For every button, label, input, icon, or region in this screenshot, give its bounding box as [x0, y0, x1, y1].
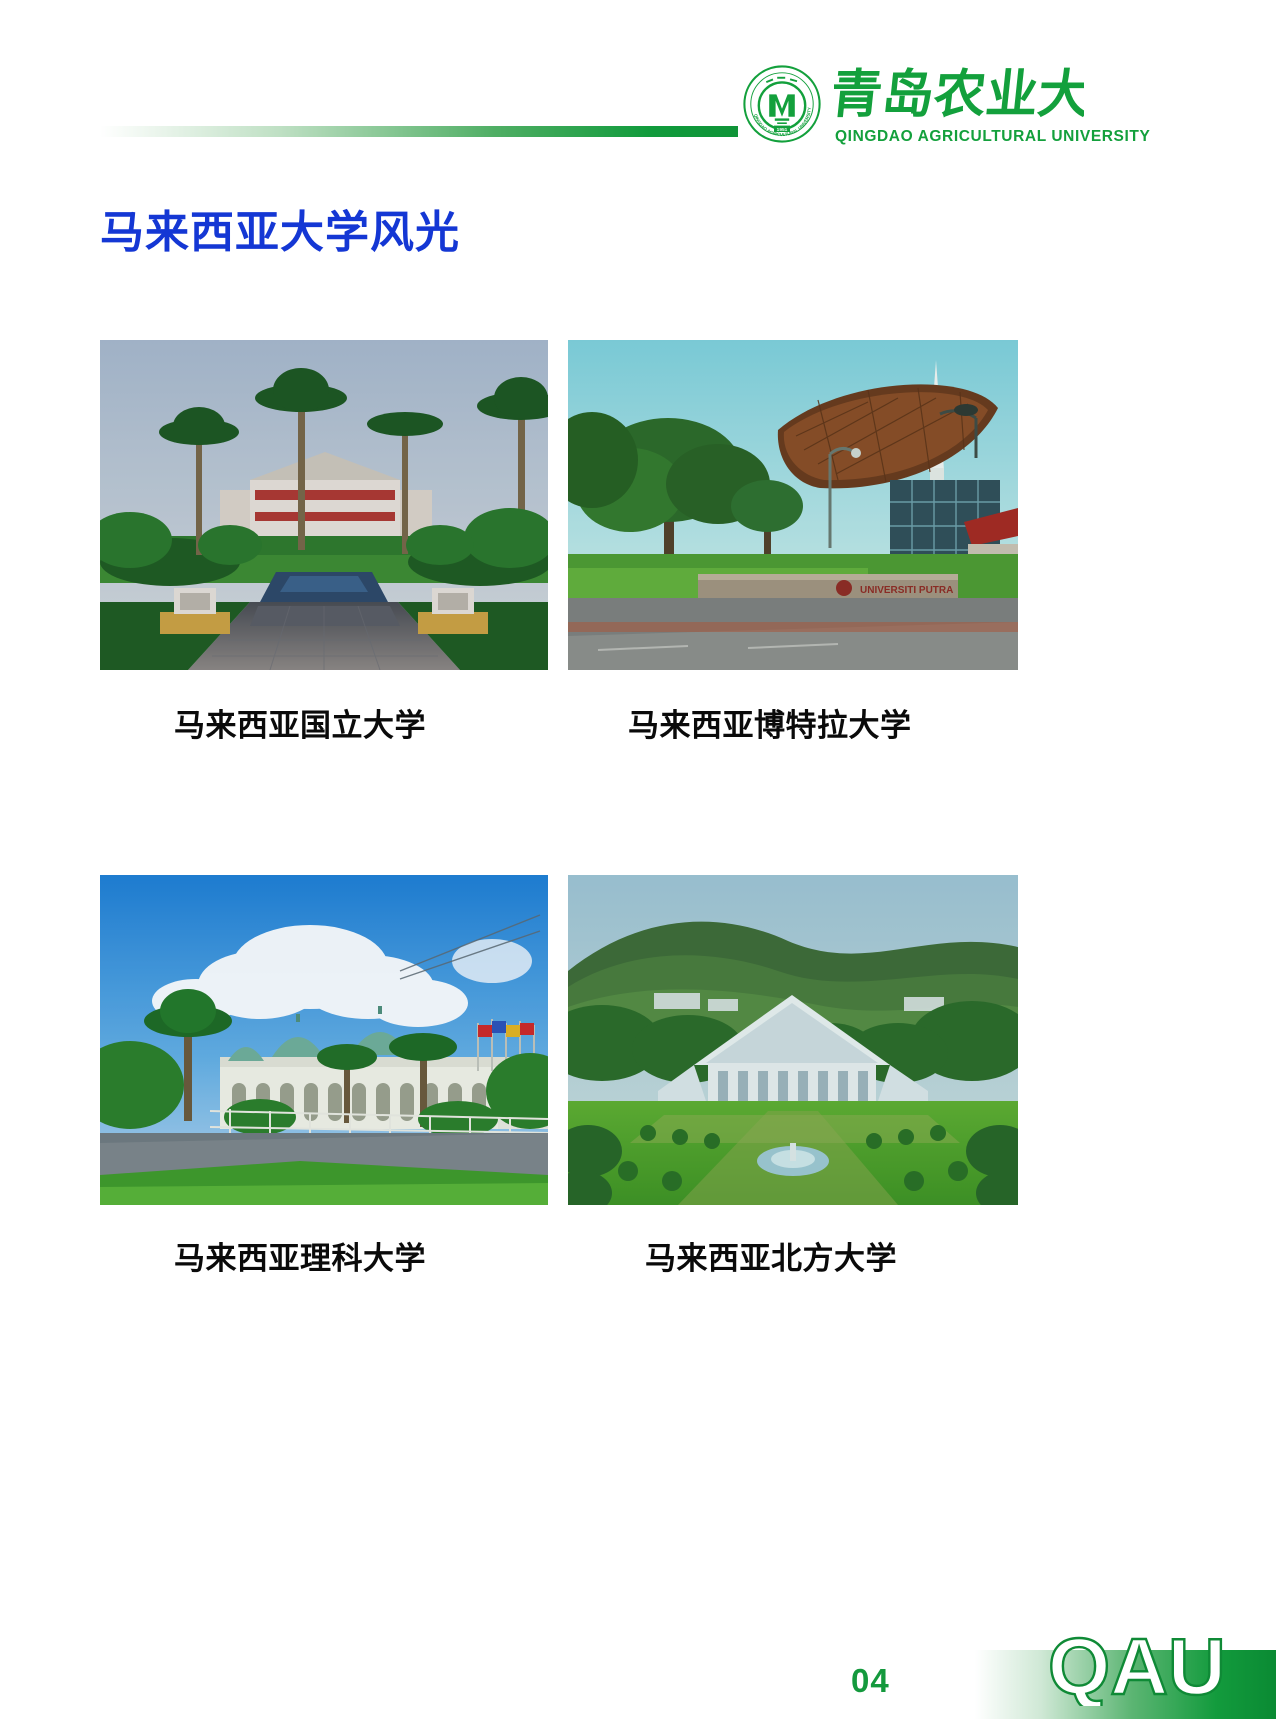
photo-caption-3: 马来西亚理科大学 — [174, 1233, 426, 1278]
photo-grid: 马来西亚国立大学 — [0, 0, 1276, 1719]
photo-science-university — [100, 875, 548, 1205]
photo-caption-4: 马来西亚北方大学 — [645, 1233, 897, 1278]
page-number: 04 — [851, 1662, 890, 1700]
photo-caption-1: 马来西亚国立大学 — [174, 700, 426, 745]
qau-logo-text: QAU — [1048, 1628, 1226, 1706]
photo-northern-university — [568, 875, 1018, 1205]
qau-logo: QAU — [1048, 1628, 1233, 1706]
photo-putra-university: UNIVERSITI PUTRA — [568, 340, 1018, 670]
photo-caption-2: 马来西亚博特拉大学 — [628, 700, 912, 745]
photo-national-university — [100, 340, 548, 670]
